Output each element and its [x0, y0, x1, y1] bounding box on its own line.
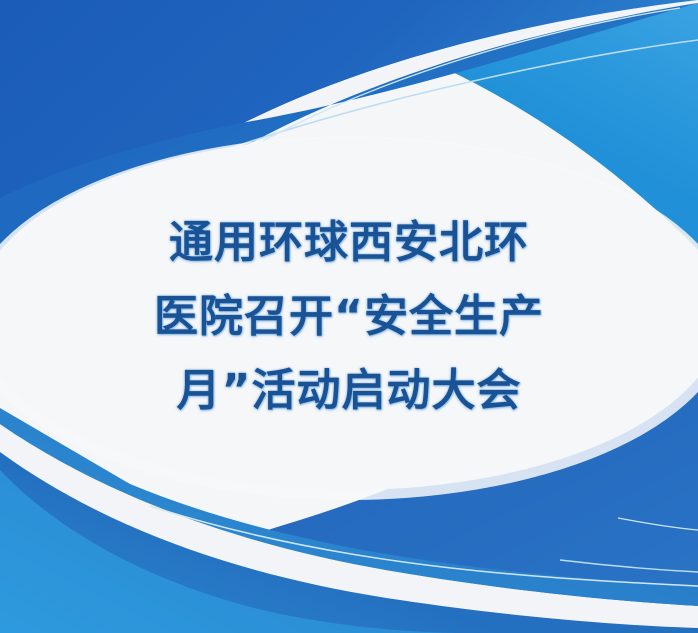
decorative-background — [0, 0, 698, 633]
poster-canvas: 通用环球西安北环 医院召开“安全生产 月”活动启动大会 — [0, 0, 698, 633]
white-ellipse-core — [0, 138, 698, 490]
white-ellipse-panel — [0, 136, 698, 500]
